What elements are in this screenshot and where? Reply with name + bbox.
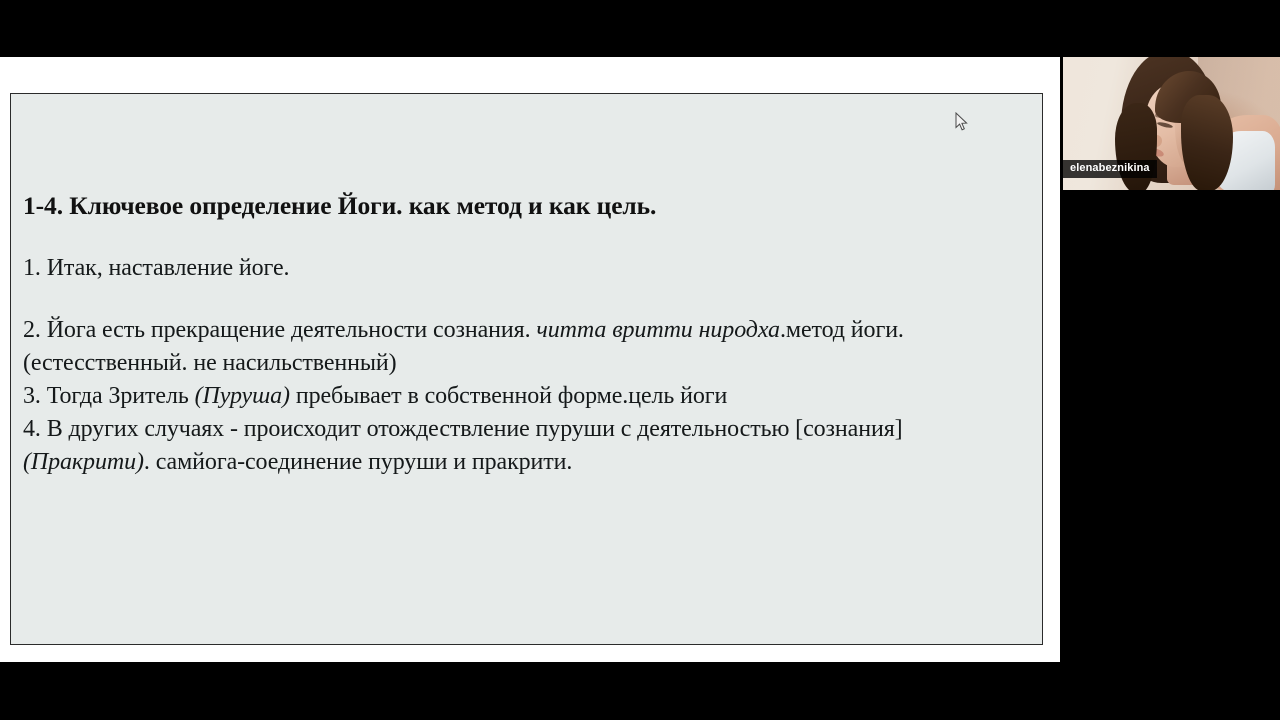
paragraph-3-sanskrit-term: (Пуруша) (195, 383, 290, 409)
letterbox-top (0, 0, 1280, 57)
paragraph-3-text-after: пребывает в собственной форме.цель йоги (290, 383, 727, 409)
screen-share-viewer: 1-4. Ключевое определение Йоги. как мето… (0, 0, 1280, 720)
paragraph-4-text-before: 4. В других случаях - происходит отождес… (23, 416, 903, 442)
paragraph-2-sanskrit-term: читта вритти ниродха (536, 317, 780, 343)
letterbox-bottom (0, 662, 1280, 720)
slide-paragraph-2: 2. Йога есть прекращение деятельности со… (23, 314, 1023, 380)
letterbox-right (1060, 190, 1280, 662)
slide-heading: 1-4. Ключевое определение Йоги. как мето… (23, 191, 656, 221)
webcam-tile-elenabeznikina[interactable]: elenabeznikina (1063, 57, 1280, 190)
paragraph-4-sanskrit-term: (Пракрити) (23, 449, 144, 475)
participant-name-label: elenabeznikina (1063, 160, 1157, 178)
presentation-slide: 1-4. Ключевое определение Йоги. как мето… (10, 93, 1043, 645)
webcam-person-hair-falling (1181, 95, 1233, 190)
paragraph-4-text-after: . самйога-соединение пуруши и пракрити. (144, 449, 572, 475)
paragraph-3-text-before: 3. Тогда Зритель (23, 383, 195, 409)
slide-paragraph-3: 3. Тогда Зритель (Пуруша) пребывает в со… (23, 380, 727, 413)
slide-paragraph-4: 4. В других случаях - происходит отождес… (23, 413, 1013, 479)
slide-paragraph-1: 1. Итак, наставление йоге. (23, 252, 289, 285)
paragraph-2-text-before: 2. Йога есть прекращение деятельности со… (23, 317, 536, 343)
